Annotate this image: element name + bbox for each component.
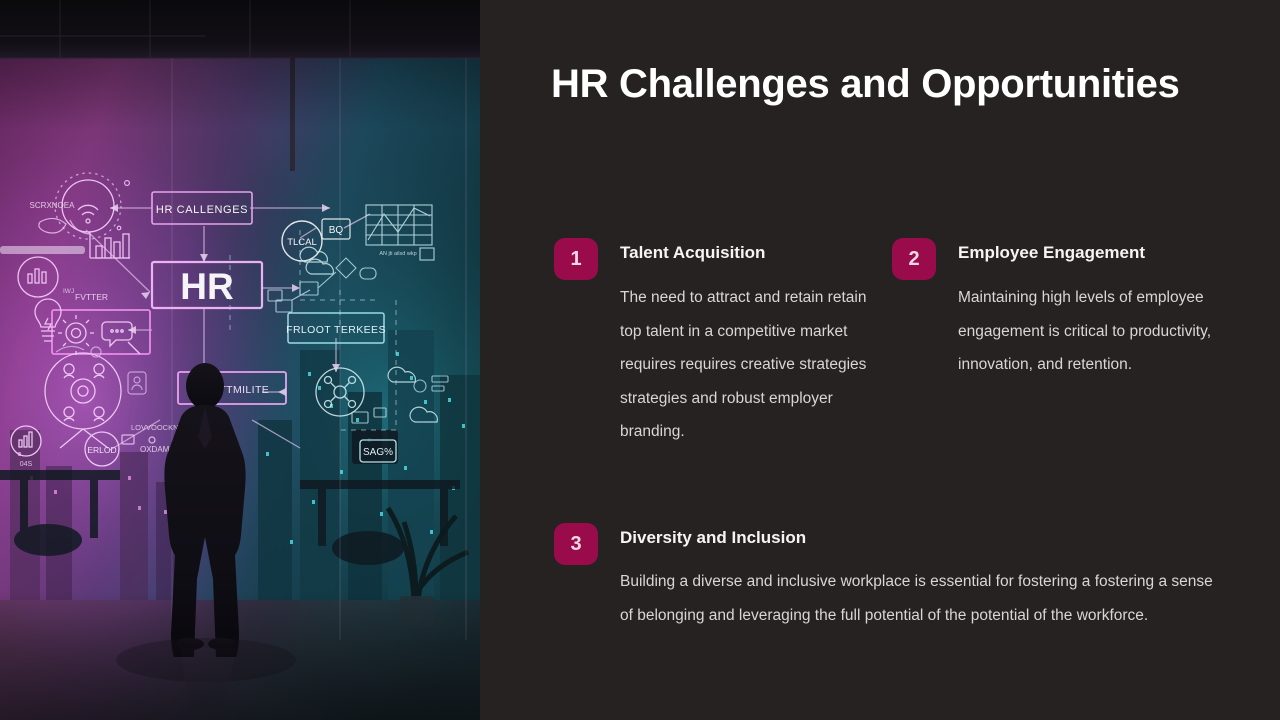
slide-content-panel: HR Challenges and Opportunities 1 Talent… bbox=[480, 0, 1280, 720]
items-list: 1 Talent Acquisition The need to attract… bbox=[480, 0, 1280, 720]
item-heading: Diversity and Inclusion bbox=[620, 523, 1214, 550]
item-body: Building a diverse and inclusive workpla… bbox=[620, 565, 1214, 632]
item-body: Maintaining high levels of employee enga… bbox=[958, 281, 1222, 382]
item-body: The need to attract and retain retain to… bbox=[620, 281, 884, 449]
list-item: 2 Employee Engagement Maintaining high l… bbox=[892, 238, 1222, 382]
hr-hologram-illustration: HR CALLENGES HR TLCAL BQ FRLOOT TERKEES … bbox=[0, 0, 480, 720]
list-item: 3 Diversity and Inclusion Building a div… bbox=[554, 523, 1214, 632]
item-heading: Talent Acquisition bbox=[620, 238, 884, 265]
item-heading: Employee Engagement bbox=[958, 238, 1222, 265]
slide-image-panel: HR CALLENGES HR TLCAL BQ FRLOOT TERKEES … bbox=[0, 0, 480, 720]
list-item: 1 Talent Acquisition The need to attract… bbox=[554, 238, 884, 449]
item-number-badge: 1 bbox=[554, 238, 598, 280]
item-number-badge: 3 bbox=[554, 523, 598, 565]
item-number-badge: 2 bbox=[892, 238, 936, 280]
